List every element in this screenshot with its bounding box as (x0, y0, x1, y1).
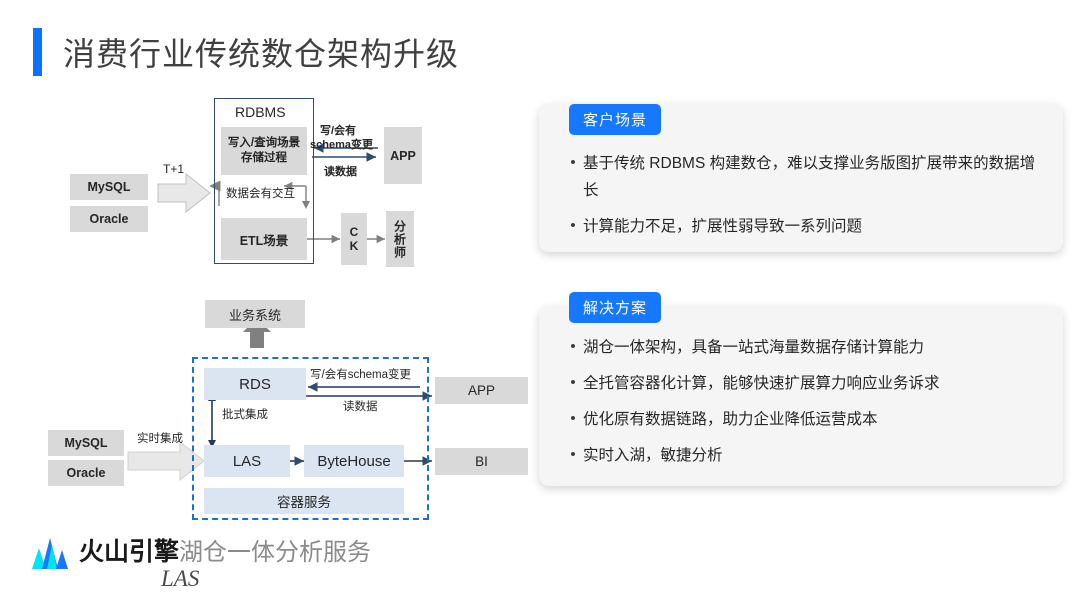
bullet-dot: • (563, 370, 583, 395)
top-ck-box: C K (341, 213, 367, 265)
rdbms-internal-label: 数据会有交互 (226, 185, 295, 201)
bottom-arrow-read-label: 读数据 (343, 398, 378, 414)
customer-scenario-bullets: • 基于传统 RDBMS 构建数仓，难以支撑业务版图扩展带来的数据增长 • 计算… (563, 150, 1043, 249)
title-accent-bar (33, 28, 42, 76)
bottom-bi-box: BI (435, 448, 528, 475)
list-item: • 全托管容器化计算，能够快速扩展算力响应业务诉求 (563, 370, 1043, 397)
brand-text-wrap: 火山引擎 湖仓一体分析服务 LAS (79, 532, 371, 592)
bottom-arrow-write-label: 写/会有schema变更 (310, 366, 411, 382)
solution-bullets: • 湖仓一体架构，具备一站式海量数据存储计算能力 • 全托管容器化计算，能够快速… (563, 334, 1043, 478)
bullet-text: 优化原有数据链路，助力企业降低运营成本 (583, 406, 878, 433)
bottom-source-mysql: MySQL (48, 430, 124, 456)
bottom-las-box: LAS (204, 445, 290, 477)
rdbms-write-query-block: 写入/查询场景 存储过程 (221, 127, 307, 175)
top-ck-line2: K (350, 239, 359, 253)
product-code: LAS (161, 566, 371, 592)
bullet-dot: • (563, 150, 583, 175)
top-source-oracle: Oracle (70, 206, 148, 232)
page-title: 消费行业传统数仓架构升级 (33, 28, 459, 76)
solution-badge: 解决方案 (569, 292, 661, 323)
bullet-dot: • (563, 442, 583, 467)
bottom-bytehouse-box: ByteHouse (304, 445, 404, 477)
arrow-block-t1 (158, 174, 210, 212)
rdbms-write-query-line1: 写入/查询场景 (228, 136, 300, 151)
list-item: • 基于传统 RDBMS 构建数仓，难以支撑业务版图扩展带来的数据增长 (563, 150, 1043, 204)
bullet-dot: • (563, 213, 583, 238)
top-source-mysql: MySQL (70, 174, 148, 200)
bottom-app-box: APP (435, 377, 528, 404)
top-app-box: APP (384, 127, 422, 184)
brand-name: 火山引擎 (79, 532, 179, 568)
list-item: • 实时入湖，敏捷分析 (563, 442, 1043, 469)
footer-branding: 火山引擎 湖仓一体分析服务 LAS (30, 532, 371, 592)
rdbms-etl-block: ETL场景 (221, 218, 307, 260)
list-item: • 湖仓一体架构，具备一站式海量数据存储计算能力 (563, 334, 1043, 361)
top-arrow-write-line2: schema变更 (310, 136, 373, 152)
list-item: • 计算能力不足，扩展性弱导致一系列问题 (563, 213, 1043, 240)
list-item: • 优化原有数据链路，助力企业降低运营成本 (563, 406, 1043, 433)
bullet-dot: • (563, 334, 583, 359)
bullet-text: 湖仓一体架构，具备一站式海量数据存储计算能力 (583, 334, 924, 361)
connector-layer (0, 0, 1080, 608)
bottom-flow-label-realtime: 实时集成 (137, 430, 183, 446)
customer-scenario-badge: 客户场景 (569, 104, 661, 135)
top-flow-label-t1: T+1 (163, 162, 184, 176)
product-name: 湖仓一体分析服务 (179, 532, 371, 567)
bottom-business-system-box: 业务系统 (205, 300, 305, 328)
top-analyst-box: 分析师 (386, 211, 414, 267)
bottom-batch-label: 批式集成 (222, 406, 268, 422)
bullet-dot: • (563, 406, 583, 431)
bullet-text: 实时入湖，敏捷分析 (583, 442, 723, 469)
title-text: 消费行业传统数仓架构升级 (63, 29, 459, 75)
bottom-rds-box: RDS (204, 368, 306, 400)
bottom-source-oracle: Oracle (48, 460, 124, 486)
bullet-text: 全托管容器化计算，能够快速扩展算力响应业务诉求 (583, 370, 940, 397)
rdbms-write-query-line2: 存储过程 (241, 151, 287, 166)
top-ck-line1: C (350, 225, 359, 239)
rdbms-title: RDBMS (235, 104, 286, 120)
top-arrow-read-label: 读数据 (324, 163, 357, 179)
bottom-container-service-box: 容器服务 (204, 488, 404, 514)
bullet-text: 计算能力不足，扩展性弱导致一系列问题 (583, 213, 862, 240)
bullet-text: 基于传统 RDBMS 构建数仓，难以支撑业务版图扩展带来的数据增长 (583, 150, 1043, 204)
slide-canvas: 消费行业传统数仓架构升级 (0, 0, 1080, 608)
brand-line: 火山引擎 湖仓一体分析服务 (79, 532, 371, 568)
volcano-logo-icon (30, 536, 72, 570)
